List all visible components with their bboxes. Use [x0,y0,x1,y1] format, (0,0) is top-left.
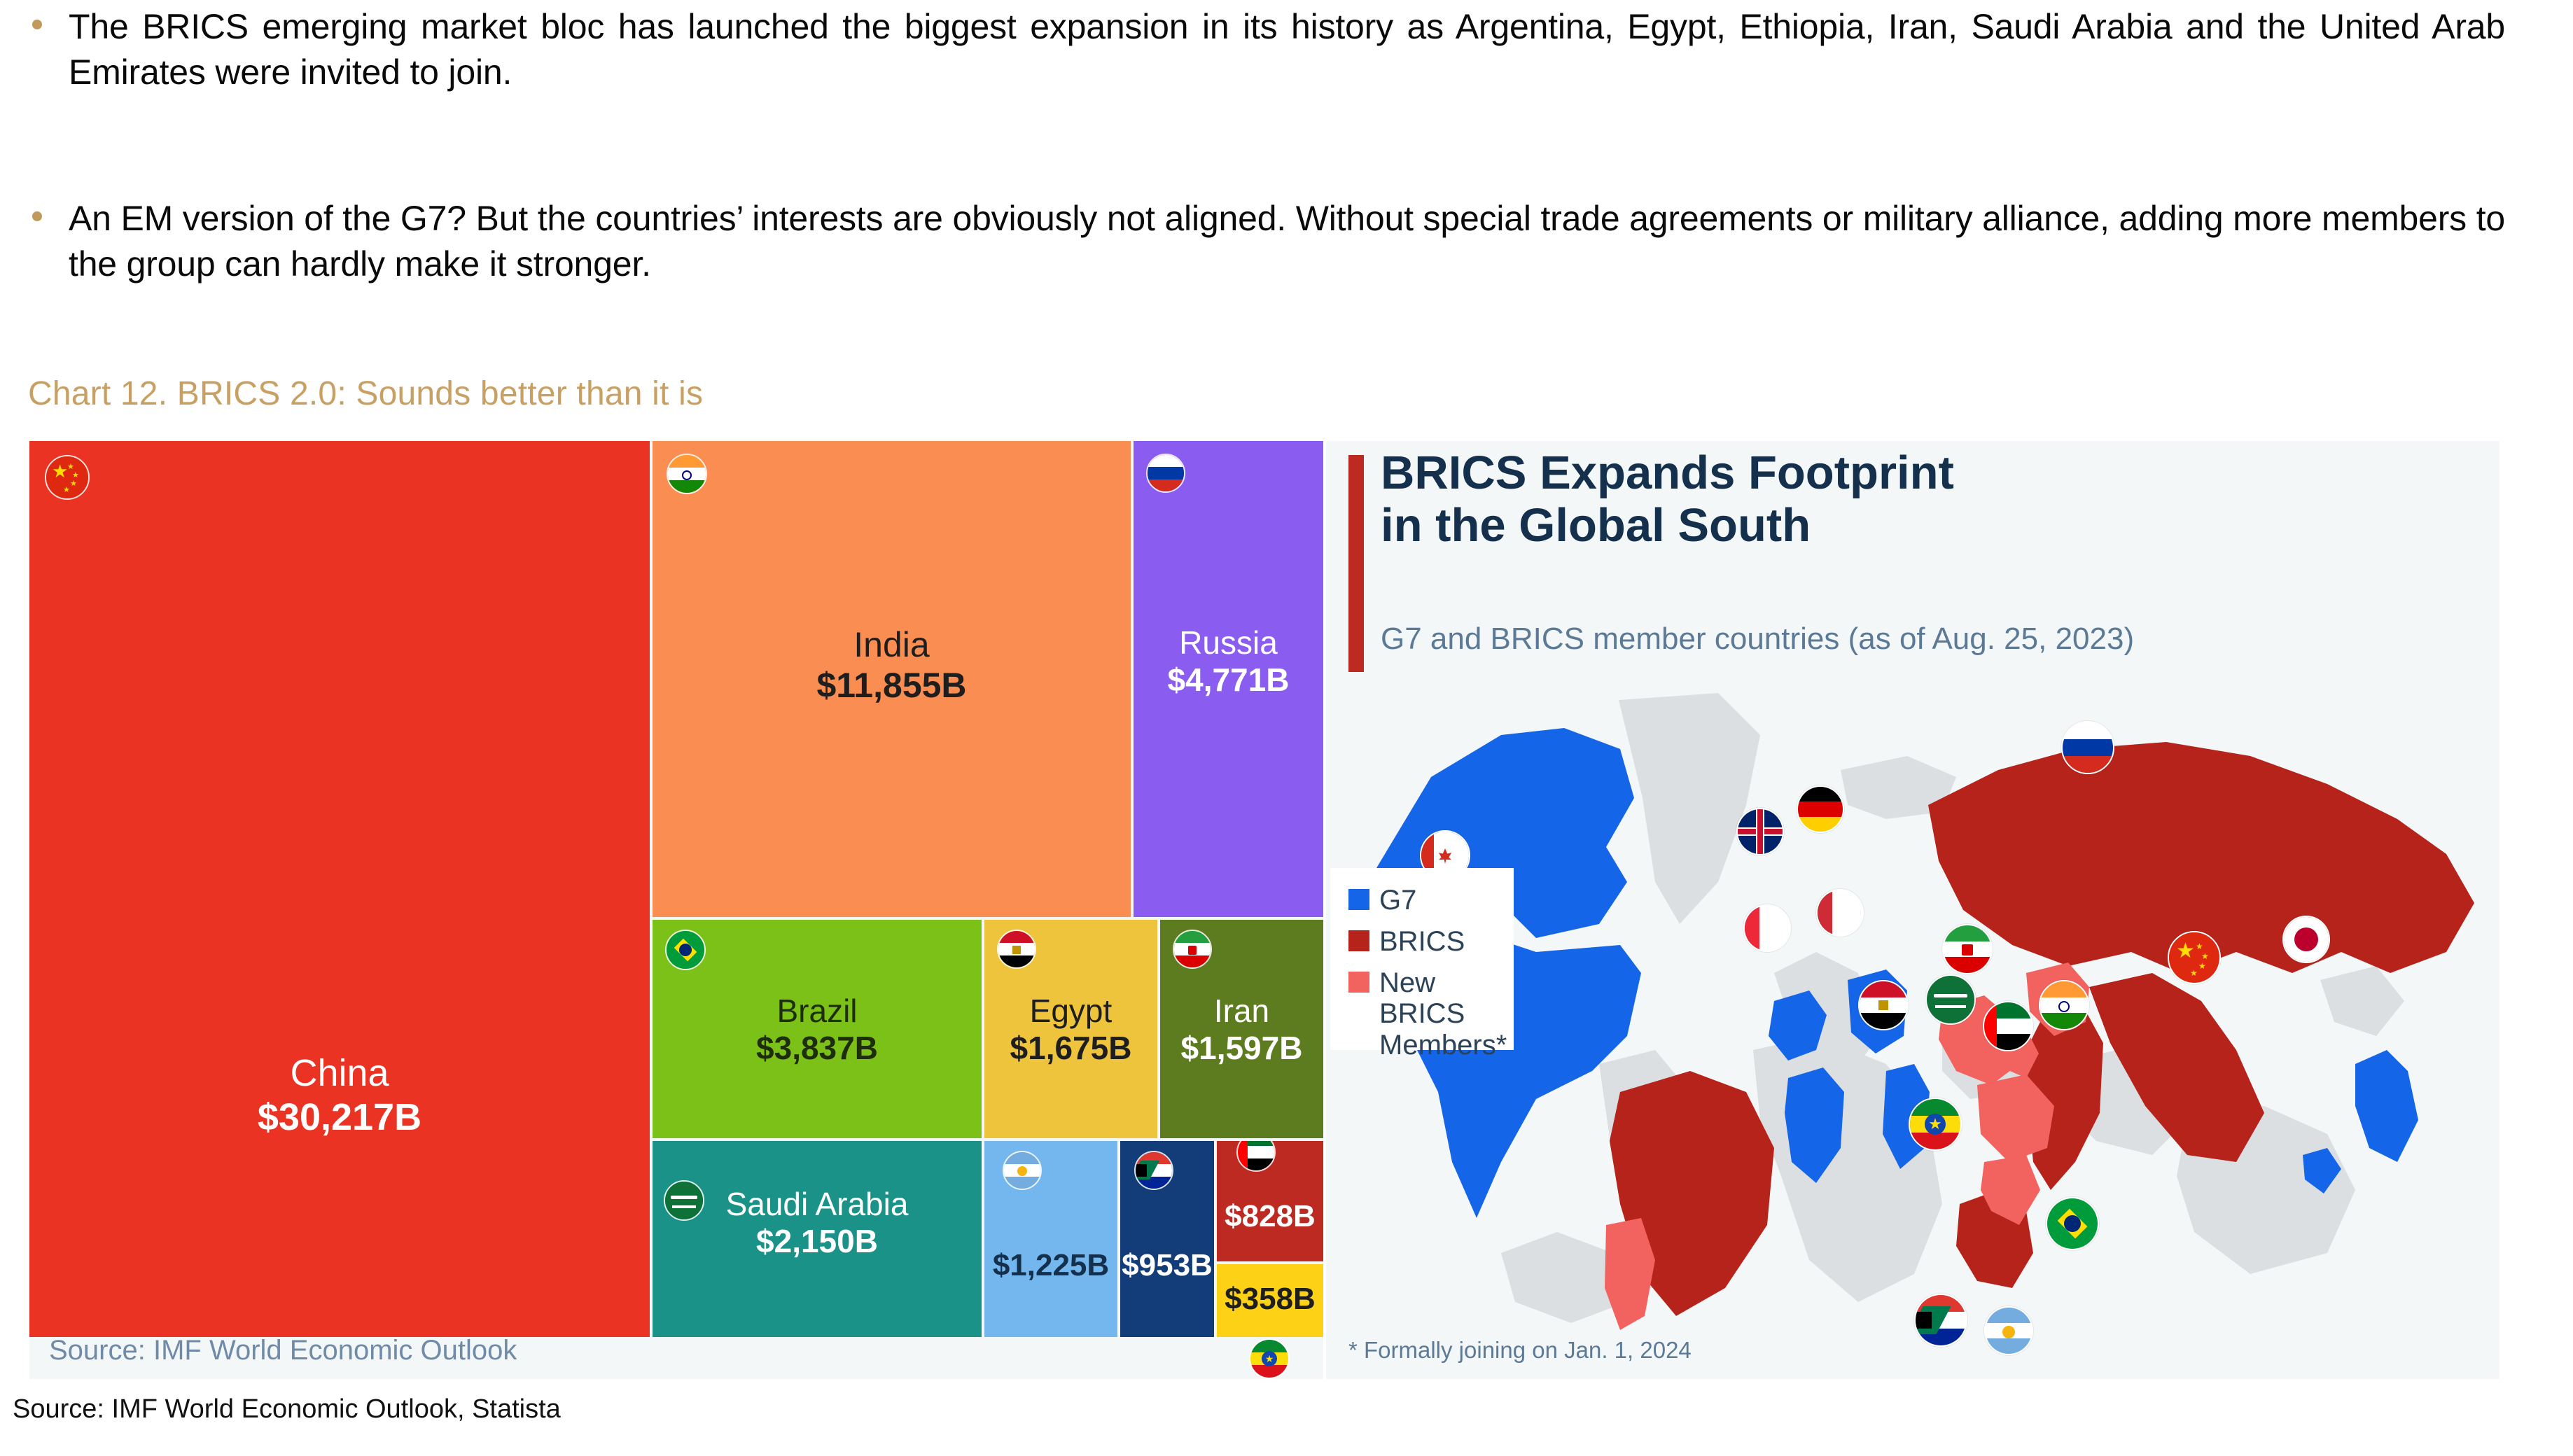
treemap-source-label: Source: IMF World Economic Outlook [49,1335,517,1366]
figure-container: ★ ★ ★ ★ ★ China $30,217B India $11,855B [29,441,2499,1379]
legend-swatch-brics [1348,930,1369,951]
bullet-dot-icon [32,20,42,29]
treemap-cell-argentina[interactable]: $1,225B [984,1141,1117,1337]
map-pin-flag-gb-icon [1736,808,1784,855]
treemap-cell-value: $11,855B [816,666,966,705]
legend-item-brics[interactable]: BRICS [1348,926,1514,958]
treemap-cell-value: $30,217B [258,1096,421,1138]
legend-item-g7[interactable]: G7 [1348,885,1514,916]
treemap-cell-ethiopia[interactable]: $358B [1217,1264,1323,1337]
bullet-dot-icon [32,211,42,221]
legend-swatch-new-brics-members [1348,972,1369,993]
flag-eg-icon [997,930,1036,969]
treemap-cell-value: $953B [1122,1248,1213,1282]
bullet-item: An EM version of the G7? But the countri… [0,196,2573,287]
map-pin-flag-et-icon: ★ [1909,1098,1962,1151]
flag-br-icon [665,930,706,970]
map-pin-flag-ru-icon [2061,721,2114,774]
flag-za-icon [1134,1151,1173,1190]
treemap-cell-egypt[interactable]: Egypt $1,675B [984,920,1157,1138]
legend-item-new-brics-members[interactable]: New BRICS Members* [1348,967,1514,1061]
treemap-cell-brazil[interactable]: Brazil $3,837B [653,920,982,1138]
treemap-cell-name: Iran [1160,993,1323,1030]
map-pin-flag-jp-icon [2282,916,2330,963]
legend-label-new-brics-members: New BRICS Members* [1379,967,1514,1061]
map-panel: BRICS Expands Footprint in the Global So… [1326,441,2499,1379]
map-pin-flag-eg-icon [1858,980,1909,1030]
map-panel-title: BRICS Expands Footprint in the Global So… [1381,447,2473,552]
treemap-cell-china[interactable]: ★ ★ ★ ★ ★ China $30,217B [29,441,650,1337]
flag-ir-icon [1173,930,1212,969]
flag-cn-icon: ★ ★ ★ ★ ★ [45,455,90,500]
map-pin-flag-it-icon [1816,889,1864,937]
treemap-cell-united-arab-emirates[interactable]: $828B [1217,1141,1323,1261]
treemap-cell-value: $358B [1225,1282,1316,1316]
treemap-cell-value: $1,597B [1181,1030,1303,1066]
flag-ar-icon [1003,1151,1042,1190]
title-accent-bar [1348,455,1364,672]
bullet-item: The BRICS emerging market bloc has launc… [0,4,2573,95]
map-title-line1: BRICS Expands Footprint [1381,447,1954,499]
flag-ae-icon [1236,1141,1276,1172]
legend-label-brics: BRICS [1379,926,1465,958]
treemap-cell-name: Egypt [984,993,1157,1030]
treemap-cell-name: Saudi Arabia [653,1186,982,1223]
footer-source: Source: IMF World Economic Outlook, Stat… [13,1394,561,1424]
treemap-cell-name: Russia [1134,624,1323,661]
legend-label-g7: G7 [1379,885,1416,916]
treemap-cell-value: $2,150B [756,1223,878,1259]
bullet-text: The BRICS emerging market bloc has launc… [69,4,2505,95]
flag-ru-icon [1146,454,1185,493]
chart-title: Chart 12. BRICS 2.0: Sounds better than … [28,374,703,413]
flag-et-icon: ★ [1249,1338,1290,1379]
map-pin-flag-cn-icon: ★ ★ ★ ★ ★ [2168,931,2221,984]
bullet-list: The BRICS emerging market bloc has launc… [0,0,2573,182]
map-pin-flag-de-icon [1797,785,1844,833]
map-title-line2: in the Global South [1381,499,1811,552]
treemap-cell-iran[interactable]: Iran $1,597B [1160,920,1323,1138]
legend-swatch-g7 [1348,889,1369,910]
treemap-cell-value: $1,675B [1010,1030,1132,1066]
treemap-cell-india[interactable]: India $11,855B [653,441,1131,917]
map-pin-flag-ir-icon [1942,924,1993,974]
treemap-cell-name: India [653,624,1131,665]
map-pin-flag-sa-icon [1925,974,1976,1025]
treemap-chart: ★ ★ ★ ★ ★ China $30,217B India $11,855B [29,441,1323,1379]
map-pin-flag-za-icon [1914,1294,1967,1347]
map-panel-subtitle: G7 and BRICS member countries (as of Aug… [1381,622,2134,657]
treemap-cell-saudi-arabia[interactable]: Saudi Arabia $2,150B [653,1141,982,1337]
treemap-cell-russia[interactable]: Russia $4,771B [1134,441,1323,917]
treemap-cell-value: $1,225B [993,1248,1109,1282]
map-pin-flag-in-icon [2039,980,2089,1030]
map-footnote: * Formally joining on Jan. 1, 2024 [1348,1337,1692,1364]
map-pin-flag-ae-icon [1983,1001,2033,1051]
treemap-cell-value: $4,771B [1168,661,1290,698]
map-pin-flag-ar-icon [1984,1306,2033,1355]
treemap-cell-south-africa[interactable]: $953B [1120,1141,1214,1337]
treemap-cell-name: Brazil [653,993,982,1030]
map-pin-flag-fr-icon [1743,904,1791,952]
treemap-cell-value: $828B [1225,1199,1316,1233]
treemap-cell-name: China [29,1051,650,1095]
map-pin-flag-br-icon [2046,1197,2099,1250]
bullet-text: An EM version of the G7? But the countri… [69,196,2505,287]
map-legend: G7 BRICS New BRICS Members* [1330,868,1514,1050]
treemap-cell-value: $3,837B [756,1030,878,1066]
flag-in-icon [667,454,707,494]
